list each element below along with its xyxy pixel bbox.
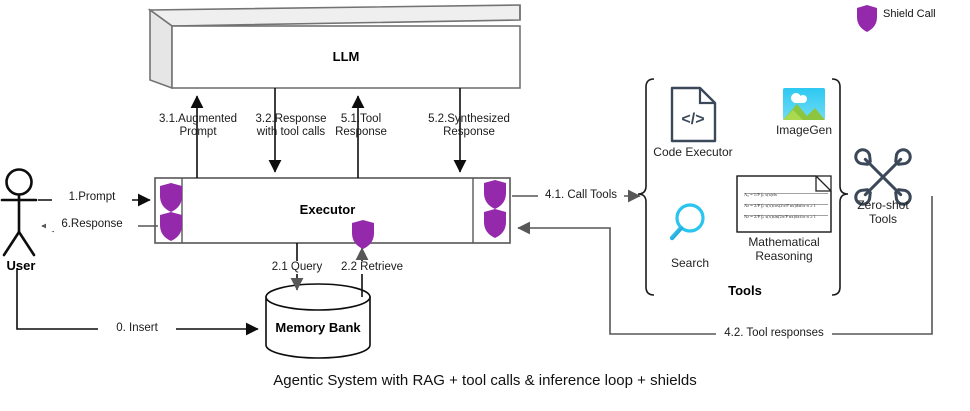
- edge-label-synthesized-response: 5.2.Synthesized Response: [412, 113, 526, 139]
- tool-label-imagegen: ImageGen: [764, 123, 844, 137]
- tool-label-zero-shot-tools: Zero-shot Tools: [843, 198, 923, 226]
- magnifier-icon: [672, 205, 703, 238]
- svg-text:for n ≥ 1: for n ≥ 1: [800, 203, 817, 208]
- edge-label-retrieve: 2.2 Retrieve: [330, 261, 414, 274]
- edge-label-query: 2.1 Query: [258, 261, 336, 274]
- llm-label: LLM: [172, 49, 520, 64]
- code-document-icon: </>: [672, 88, 715, 141]
- tool-label-mathematical-reasoning: Mathematical Reasoning: [730, 235, 838, 263]
- edge-label-tool-response: 5.1.Tool Response: [320, 113, 402, 139]
- tool-label-search: Search: [655, 256, 725, 270]
- image-icon: [783, 88, 825, 120]
- edge-label-insert: 0. Insert: [98, 322, 176, 335]
- edge-label-response: 6.Response: [46, 218, 138, 231]
- executor-label: Executor: [182, 202, 473, 217]
- memory-bank-label: Memory Bank: [266, 320, 370, 335]
- tool-label-code-executor: Code Executor: [648, 145, 738, 159]
- diagram-caption: Agentic System with RAG + tool calls & i…: [0, 372, 970, 389]
- formula-document-icon: A₀ = 1/P ∫ₚ s(x)dx Aₙ = 2/P ∫ₚ s(x)cos(2…: [737, 176, 831, 232]
- llm-node: [150, 5, 520, 88]
- user-label: User: [0, 258, 42, 273]
- user-actor: [2, 170, 36, 256]
- tools-bracket-left: [638, 79, 654, 295]
- legend-shield-label: Shield Call: [883, 8, 936, 20]
- tools-group-label: Tools: [700, 283, 790, 298]
- shield-icon-legend: [857, 5, 877, 32]
- svg-text:for n ≥ 1: for n ≥ 1: [800, 214, 817, 219]
- edge-label-tool-responses: 4.2. Tool responses: [716, 327, 832, 340]
- diagram-canvas: </> A₀ = 1/P ∫ₚ s(x)dx Aₙ = 2/P ∫ₚ s(x): [0, 0, 970, 411]
- insert-edge: [17, 268, 258, 329]
- shield-icon-executor-memory: [352, 220, 374, 249]
- svg-text:</>: </>: [681, 111, 704, 128]
- edge-label-prompt: 1.Prompt: [52, 191, 132, 204]
- edge-label-call-tools: 4.1. Call Tools: [538, 189, 624, 202]
